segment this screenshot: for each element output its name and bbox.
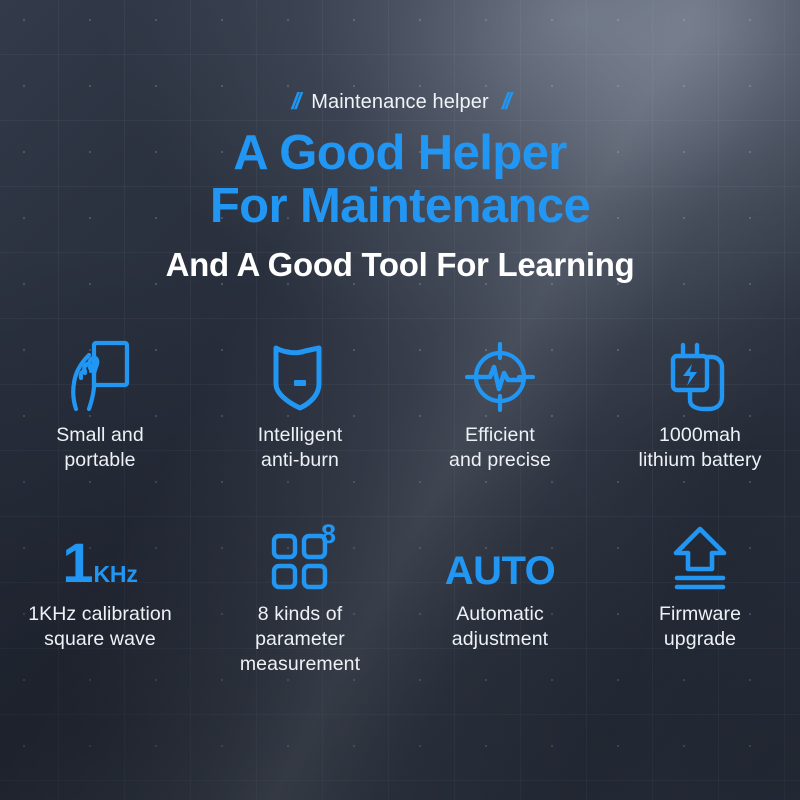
headline-line-1: A Good Helper [233,128,566,179]
eyebrow-label: Maintenance helper [311,91,488,114]
feature-label-line-2: adjustment [452,627,548,652]
feature-label-line-2: and precise [449,448,551,473]
feature-1khz-calibration: 1 KHz 1KHz calibration square wave [0,515,200,677]
feature-label-line-2: upgrade [659,627,741,652]
upload-arrow-icon [671,515,729,591]
shield-icon [271,336,329,412]
feature-label: 1KHz calibration square wave [28,602,172,652]
feature-label: 8 kinds of parameter measurement [240,602,360,677]
subheadline: And A Good Tool For Learning [166,246,635,284]
feature-row-2: 1 KHz 1KHz calibration square wave [0,515,800,677]
feature-label-line-3: measurement [240,652,360,677]
feature-small-and-portable: Small and portable [0,336,200,473]
feature-label-line-2: square wave [28,627,172,652]
auto-glyph-label: AUTO [445,551,556,591]
feature-label-line-2: portable [56,448,144,473]
eyebrow-row: // Maintenance helper // [291,88,508,116]
feature-label: Automatic adjustment [452,602,548,652]
feature-firmware-upgrade: Firmware upgrade [600,515,800,677]
feature-grid: Small and portable Intelligent anti-burn [0,336,800,677]
one-khz-number: 1 [62,535,92,591]
feature-label: Efficient and precise [449,423,551,473]
crosshair-pulse-icon [465,336,535,412]
feature-label-line-1: 8 kinds of [240,602,360,627]
feature-label-line-2: parameter [240,627,360,652]
feature-row-1: Small and portable Intelligent anti-burn [0,336,800,473]
feature-label-line-1: 1KHz calibration [28,602,172,627]
feature-label-line-2: lithium battery [639,448,762,473]
feature-label-line-1: Small and [56,423,144,448]
banner-content: // Maintenance helper // A Good Helper F… [0,0,800,800]
feature-label: Small and portable [56,423,144,473]
double-slash-left-icon: // [291,90,298,113]
feature-label-line-1: Automatic [452,602,548,627]
one-khz-unit: KHz [94,563,138,586]
charger-plug-icon [665,336,735,412]
feature-8-parameter-measurement: 8 8 kinds of parameter measurement [200,515,400,677]
feature-label-line-1: 1000mah [639,423,762,448]
hand-holding-device-icon [67,336,133,412]
headline-line-2: For Maintenance [210,181,590,232]
feature-automatic-adjustment: AUTO Automatic adjustment [400,515,600,677]
four-squares-grid-icon: 8 [271,515,329,591]
feature-label: Intelligent anti-burn [258,423,343,473]
feature-label-line-2: anti-burn [258,448,343,473]
double-slash-right-icon: // [502,90,509,113]
grid-superscript-8: 8 [321,521,336,548]
feature-label: 1000mah lithium battery [639,423,762,473]
auto-text-icon: AUTO [445,515,556,591]
feature-label: Firmware upgrade [659,602,741,652]
feature-label-line-1: Efficient [449,423,551,448]
feature-intelligent-anti-burn: Intelligent anti-burn [200,336,400,473]
feature-lithium-battery: 1000mah lithium battery [600,336,800,473]
feature-efficient-and-precise: Efficient and precise [400,336,600,473]
promo-banner: // Maintenance helper // A Good Helper F… [0,0,800,800]
feature-label-line-1: Intelligent [258,423,343,448]
feature-label-line-1: Firmware [659,602,741,627]
one-khz-text-icon: 1 KHz [62,515,137,591]
